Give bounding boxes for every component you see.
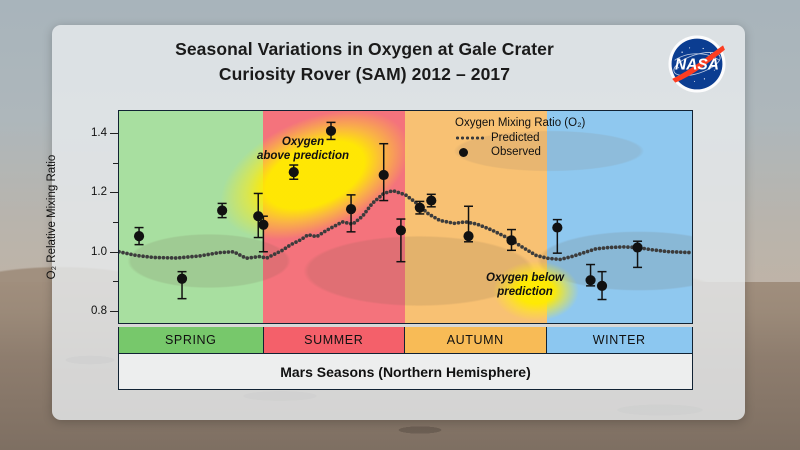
plot-area: Oxygen above prediction Oxygen below pre… xyxy=(118,110,693,324)
legend-dotted-line-swatch xyxy=(455,136,489,140)
y-tick-1.2 xyxy=(110,192,118,193)
y-axis-ticks: 1.4 1.2 1.0 0.8 xyxy=(88,110,118,324)
season-label-autumn: AUTUMN xyxy=(404,327,546,353)
y-tick-0.8 xyxy=(110,311,118,312)
season-label-winter: WINTER xyxy=(546,327,692,353)
y-tick-label-0.8: 0.8 xyxy=(91,305,107,317)
legend: Oxygen Mixing Ratio (O₂) Predicted Obser… xyxy=(455,117,625,159)
annotation-below-line-1: Oxygen below xyxy=(486,272,564,284)
y-tick-1.0 xyxy=(110,252,118,253)
annotation-below-line-2: prediction xyxy=(497,286,553,298)
nasa-wordmark: NASA xyxy=(675,57,719,74)
season-label-spring: SPRING xyxy=(119,327,263,353)
chart-card: Seasonal Variations in Oxygen at Gale Cr… xyxy=(52,25,745,420)
legend-item-predicted: Predicted xyxy=(455,131,625,145)
y-tick-label-1.0: 1.0 xyxy=(91,246,107,258)
nasa-logo: NASA xyxy=(666,33,728,95)
title-line-1: Seasonal Variations in Oxygen at Gale Cr… xyxy=(52,37,677,62)
annotation-above-line-1: Oxygen xyxy=(282,136,324,148)
legend-item-observed: Observed xyxy=(455,145,625,159)
page-title: Seasonal Variations in Oxygen at Gale Cr… xyxy=(52,37,677,87)
x-axis-label: Mars Seasons (Northern Hemisphere) xyxy=(118,354,693,390)
y-tick-label-1.4: 1.4 xyxy=(91,127,107,139)
y-tick-1.4 xyxy=(110,133,118,134)
season-label-strip: SPRING SUMMER AUTUMN WINTER xyxy=(118,327,693,354)
legend-label-observed: Observed xyxy=(491,146,541,158)
legend-dot-swatch xyxy=(455,148,489,157)
predicted-line xyxy=(119,189,691,261)
annotation-above-prediction: Oxygen above prediction xyxy=(237,135,369,164)
legend-label-predicted: Predicted xyxy=(491,132,540,144)
annotation-above-line-2: above prediction xyxy=(257,150,349,162)
legend-title: Oxygen Mixing Ratio (O₂) xyxy=(455,117,625,129)
y-tick-label-1.2: 1.2 xyxy=(91,186,107,198)
y-axis-label: O₂ Relative Mixing Ratio xyxy=(46,110,62,324)
title-line-2: Curiosity Rover (SAM) 2012 – 2017 xyxy=(52,62,677,87)
season-label-summer: SUMMER xyxy=(263,327,405,353)
annotation-below-prediction: Oxygen below prediction xyxy=(469,271,581,300)
